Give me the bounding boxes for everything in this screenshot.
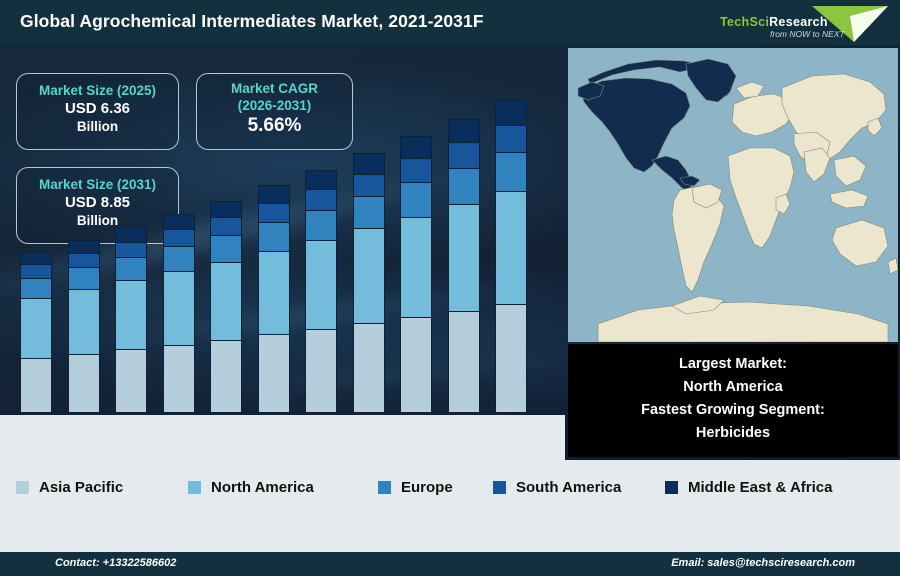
legend-label: Europe [401, 479, 453, 496]
bar-segment-europe [305, 210, 337, 240]
bar-segment-asia-pacific [400, 317, 432, 413]
bar-segment-asia-pacific [448, 311, 480, 413]
bar-segment-north-america [495, 191, 527, 304]
key-insights-panel: Largest Market: North America Fastest Gr… [568, 344, 898, 457]
legend-item-asia-pacific[interactable]: Asia Pacific [16, 479, 123, 496]
logo-wordmark: TechSciResearch [720, 15, 828, 29]
bar-segment-south-america [163, 229, 195, 246]
footer-email: Email: sales@techsciresearch.com [671, 557, 855, 569]
bar-segment-middle-east-africa [163, 214, 195, 230]
bar-segment-asia-pacific [258, 334, 290, 413]
bar-2021 [20, 252, 52, 413]
bar-segment-asia-pacific [305, 329, 337, 413]
legend-label: Middle East & Africa [688, 479, 832, 496]
bar-segment-north-america [20, 298, 52, 359]
legend-swatch [665, 481, 678, 494]
x-axis-strip [0, 415, 565, 460]
bar-2023 [115, 227, 147, 413]
header-bar: Global Agrochemical Intermediates Market… [0, 0, 900, 45]
page-title: Global Agrochemical Intermediates Market… [20, 11, 484, 32]
bar-segment-asia-pacific [353, 323, 385, 413]
stacked-bar-chart: 202120222023202420252026E2027F2028F2029F… [0, 45, 565, 460]
bar-segment-europe [495, 152, 527, 191]
bar-segment-europe [210, 235, 242, 261]
legend-item-europe[interactable]: Europe [378, 479, 453, 496]
infographic-canvas: Market Size (2025) USD 6.36 Billion Mark… [0, 45, 900, 460]
chart-legend: Asia PacificNorth AmericaEuropeSouth Ame… [0, 460, 900, 520]
legend-label: Asia Pacific [39, 479, 123, 496]
bar-segment-asia-pacific [68, 354, 100, 413]
bar-segment-south-america [448, 142, 480, 167]
bar-segment-north-america [210, 262, 242, 340]
legend-item-middle-east-africa[interactable]: Middle East & Africa [665, 479, 832, 496]
bar-segment-europe [163, 246, 195, 271]
bar-segment-middle-east-africa [353, 153, 385, 173]
bar-segment-south-america [20, 264, 52, 277]
legend-swatch [378, 481, 391, 494]
logo-name-part1: TechSci [720, 15, 769, 29]
bar-segment-middle-east-africa [400, 136, 432, 158]
bar-segment-europe [353, 196, 385, 229]
legend-label: South America [516, 479, 621, 496]
bar-segment-south-america [210, 217, 242, 235]
bar-segment-north-america [305, 240, 337, 329]
bar-2031F [495, 100, 527, 413]
bar-segment-north-america [258, 251, 290, 335]
bar-segment-middle-east-africa [210, 201, 242, 218]
largest-market-label: Largest Market: [568, 353, 898, 376]
bar-segment-europe [448, 168, 480, 205]
bar-segment-middle-east-africa [115, 227, 147, 241]
bar-segment-europe [258, 222, 290, 250]
bar-segment-south-america [495, 125, 527, 152]
legend-swatch [493, 481, 506, 494]
legend-label: North America [211, 479, 314, 496]
bar-2030F [448, 119, 480, 413]
bar-segment-asia-pacific [495, 304, 527, 413]
footer-bar: Contact: +13322586602 Email: sales@techs… [0, 552, 900, 576]
bar-segment-asia-pacific [210, 340, 242, 413]
techsci-research-logo: TechSciResearch from NOW to NEXT [712, 2, 892, 44]
bar-segment-europe [115, 257, 147, 280]
bar-2026E [258, 185, 290, 413]
bar-2029F [400, 136, 432, 413]
legend-swatch [16, 481, 29, 494]
bar-2025 [210, 201, 242, 413]
bar-segment-middle-east-africa [68, 240, 100, 253]
bar-segment-asia-pacific [163, 345, 195, 413]
bar-segment-north-america [163, 271, 195, 345]
bar-segment-north-america [400, 217, 432, 317]
bar-segment-north-america [68, 289, 100, 354]
bar-2028F [353, 153, 385, 413]
logo-tagline: from NOW to NEXT [770, 29, 845, 39]
bar-segment-south-america [400, 158, 432, 182]
bar-segment-south-america [305, 189, 337, 210]
legend-item-north-america[interactable]: North America [188, 479, 314, 496]
bar-segment-north-america [448, 204, 480, 310]
bar-segment-middle-east-africa [20, 252, 52, 264]
world-map [568, 48, 898, 342]
fastest-growing-segment-value: Herbicides [568, 422, 898, 445]
bar-segment-asia-pacific [115, 349, 147, 413]
bar-segment-south-america [258, 203, 290, 222]
bar-segment-south-america [68, 253, 100, 267]
bar-2024 [163, 214, 195, 413]
legend-item-south-america[interactable]: South America [493, 479, 621, 496]
bar-segment-asia-pacific [20, 358, 52, 413]
largest-market-value: North America [568, 376, 898, 399]
bar-segment-europe [400, 182, 432, 217]
bar-segment-middle-east-africa [495, 100, 527, 125]
bar-segment-middle-east-africa [305, 170, 337, 189]
logo-name-part2: Research [769, 15, 828, 29]
bar-segment-south-america [353, 174, 385, 196]
bar-2022 [68, 240, 100, 413]
bar-segment-middle-east-africa [258, 185, 290, 203]
bar-segment-north-america [115, 280, 147, 349]
bar-segment-europe [20, 278, 52, 298]
fastest-growing-segment-label: Fastest Growing Segment: [568, 399, 898, 422]
footer-contact: Contact: +13322586602 [55, 557, 176, 569]
bar-segment-south-america [115, 242, 147, 258]
bar-2027F [305, 170, 337, 413]
legend-swatch [188, 481, 201, 494]
bar-segment-north-america [353, 228, 385, 323]
bar-segment-middle-east-africa [448, 119, 480, 142]
bar-segment-europe [68, 267, 100, 288]
world-map-svg [568, 48, 898, 342]
